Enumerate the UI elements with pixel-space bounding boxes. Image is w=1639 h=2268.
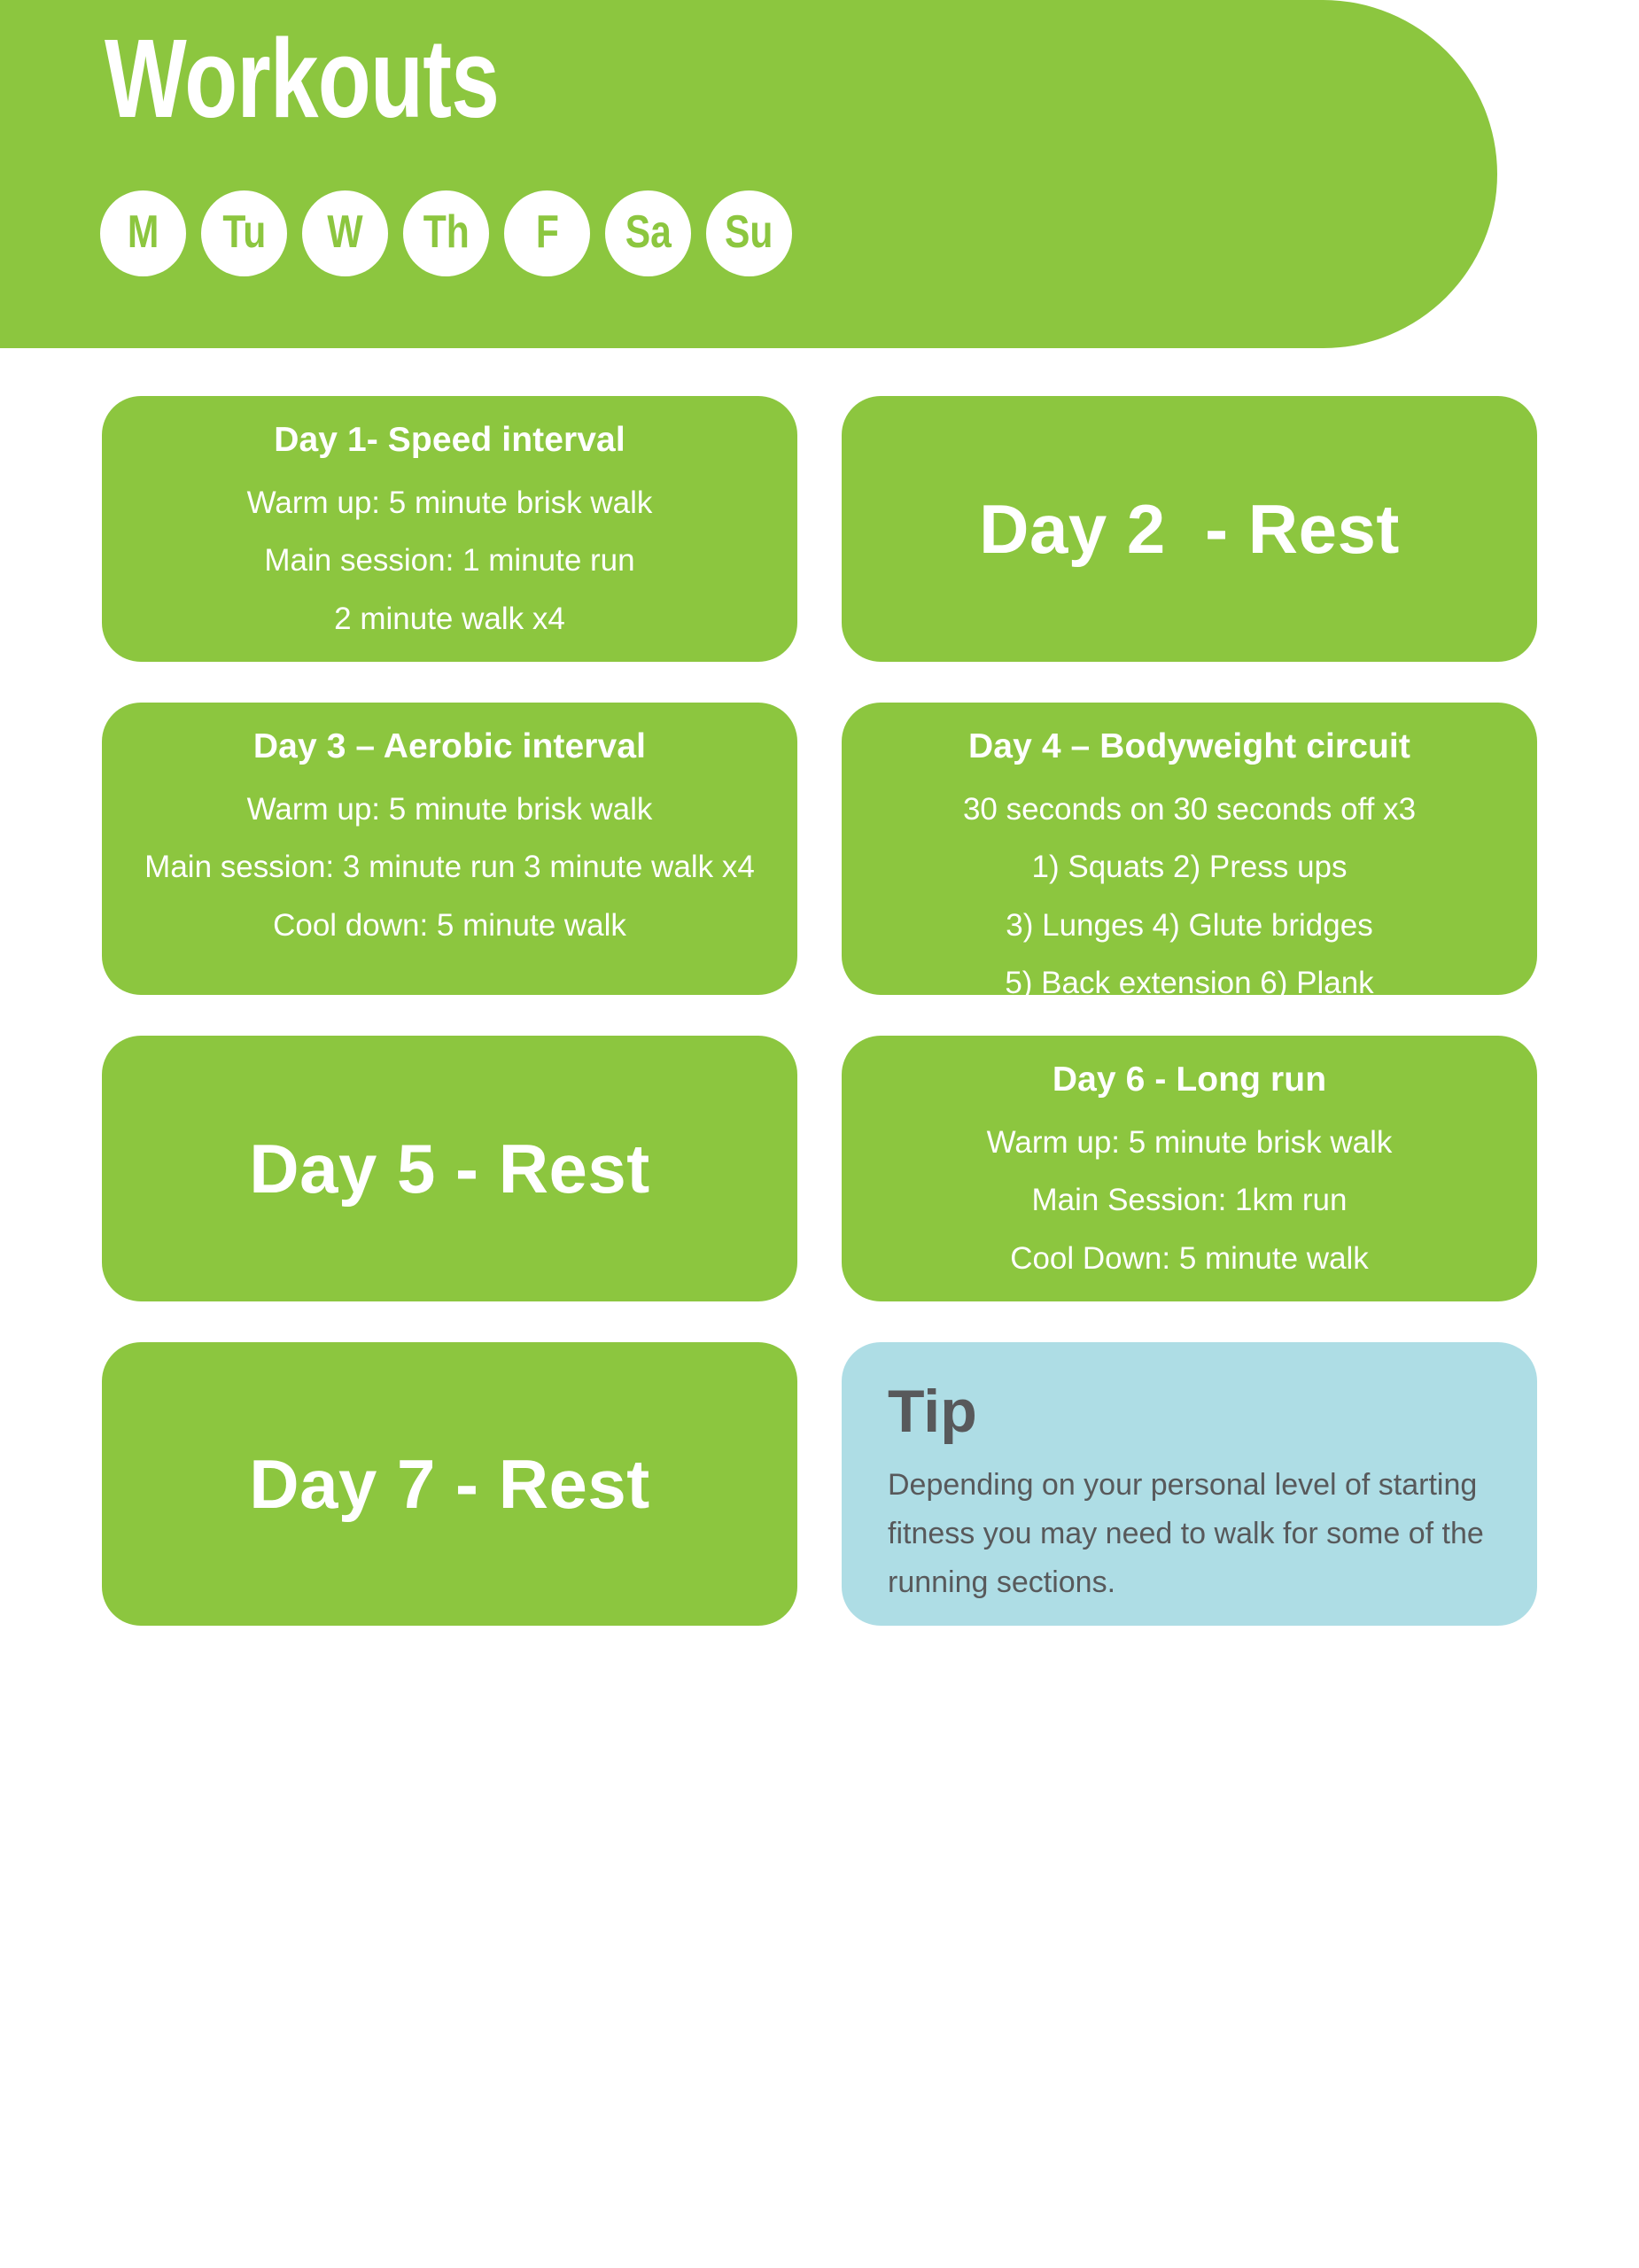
header-banner: Workouts M Tu W Th F Sa Su xyxy=(0,0,1497,348)
day-circle-wednesday[interactable]: W xyxy=(302,190,388,276)
day-circle-label-monday: M xyxy=(128,209,159,255)
tip-title: Tip xyxy=(888,1381,1491,1441)
day-circle-sunday[interactable]: Su xyxy=(706,190,792,276)
card-title-day-5: Day 5 - Rest xyxy=(249,1134,650,1203)
card-title-day-3: Day 3 – Aerobic interval xyxy=(132,727,767,766)
day-circle-saturday[interactable]: Sa xyxy=(605,190,691,276)
card-line-day-4-ex-3-4: 3) Lunges 4) Glute bridges xyxy=(872,905,1507,946)
day-circle-label-friday: F xyxy=(535,209,558,255)
workout-card-day-3[interactable]: Day 3 – Aerobic interval Warm up: 5 minu… xyxy=(102,703,797,995)
day-circle-tuesday[interactable]: Tu xyxy=(201,190,287,276)
day-circle-label-saturday: Sa xyxy=(625,209,671,255)
card-title-day-4: Day 4 – Bodyweight circuit xyxy=(872,727,1507,766)
card-line-day-1-warmup: Warm up: 5 minute brisk walk xyxy=(132,483,767,524)
day-circle-thursday[interactable]: Th xyxy=(403,190,489,276)
card-line-day-6-cooldown: Cool Down: 5 minute walk xyxy=(872,1239,1507,1279)
card-line-day-3-main: Main session: 3 minute run 3 minute walk… xyxy=(132,847,767,888)
tip-card[interactable]: Tip Depending on your personal level of … xyxy=(842,1342,1537,1626)
day-circle-friday[interactable]: F xyxy=(504,190,590,276)
workout-card-day-5[interactable]: Day 5 - Rest xyxy=(102,1036,797,1301)
card-line-day-4-protocol: 30 seconds on 30 seconds off x3 xyxy=(872,789,1507,830)
day-circle-label-sunday: Su xyxy=(725,209,773,255)
workout-card-grid: Day 1- Speed interval Warm up: 5 minute … xyxy=(102,396,1537,1626)
card-line-day-3-warmup: Warm up: 5 minute brisk walk xyxy=(132,789,767,830)
workout-card-day-4[interactable]: Day 4 – Bodyweight circuit 30 seconds on… xyxy=(842,703,1537,995)
card-line-day-1-main: Main session: 1 minute run xyxy=(132,540,767,581)
card-title-day-7: Day 7 - Rest xyxy=(249,1449,650,1518)
card-line-day-6-warmup: Warm up: 5 minute brisk walk xyxy=(872,1122,1507,1163)
workout-card-day-6[interactable]: Day 6 - Long run Warm up: 5 minute brisk… xyxy=(842,1036,1537,1301)
day-circle-label-thursday: Th xyxy=(423,209,469,255)
card-title-day-1: Day 1- Speed interval xyxy=(132,421,767,460)
tip-body: Depending on your personal level of star… xyxy=(888,1461,1491,1607)
card-line-day-6-main: Main Session: 1km run xyxy=(872,1180,1507,1221)
day-selector-row: M Tu W Th F Sa Su xyxy=(100,190,792,276)
card-line-day-4-ex-5-6: 5) Back extension 6) Plank xyxy=(872,963,1507,995)
card-title-day-6: Day 6 - Long run xyxy=(872,1060,1507,1099)
page-title: Workouts xyxy=(105,23,499,135)
day-circle-label-tuesday: Tu xyxy=(222,209,266,255)
card-line-day-3-cooldown: Cool down: 5 minute walk xyxy=(132,905,767,946)
workout-card-day-2[interactable]: Day 2 - Rest xyxy=(842,396,1537,662)
day-circle-label-wednesday: W xyxy=(327,209,362,255)
workout-card-day-7[interactable]: Day 7 - Rest xyxy=(102,1342,797,1626)
card-line-day-1-cooldown: Cool down: 5 minute walk xyxy=(132,656,767,662)
card-title-day-2: Day 2 - Rest xyxy=(979,494,1400,563)
card-line-day-1-interval: 2 minute walk x4 xyxy=(132,599,767,640)
day-circle-monday[interactable]: M xyxy=(100,190,186,276)
card-line-day-4-ex-1-2: 1) Squats 2) Press ups xyxy=(872,847,1507,888)
workout-card-day-1[interactable]: Day 1- Speed interval Warm up: 5 minute … xyxy=(102,396,797,662)
